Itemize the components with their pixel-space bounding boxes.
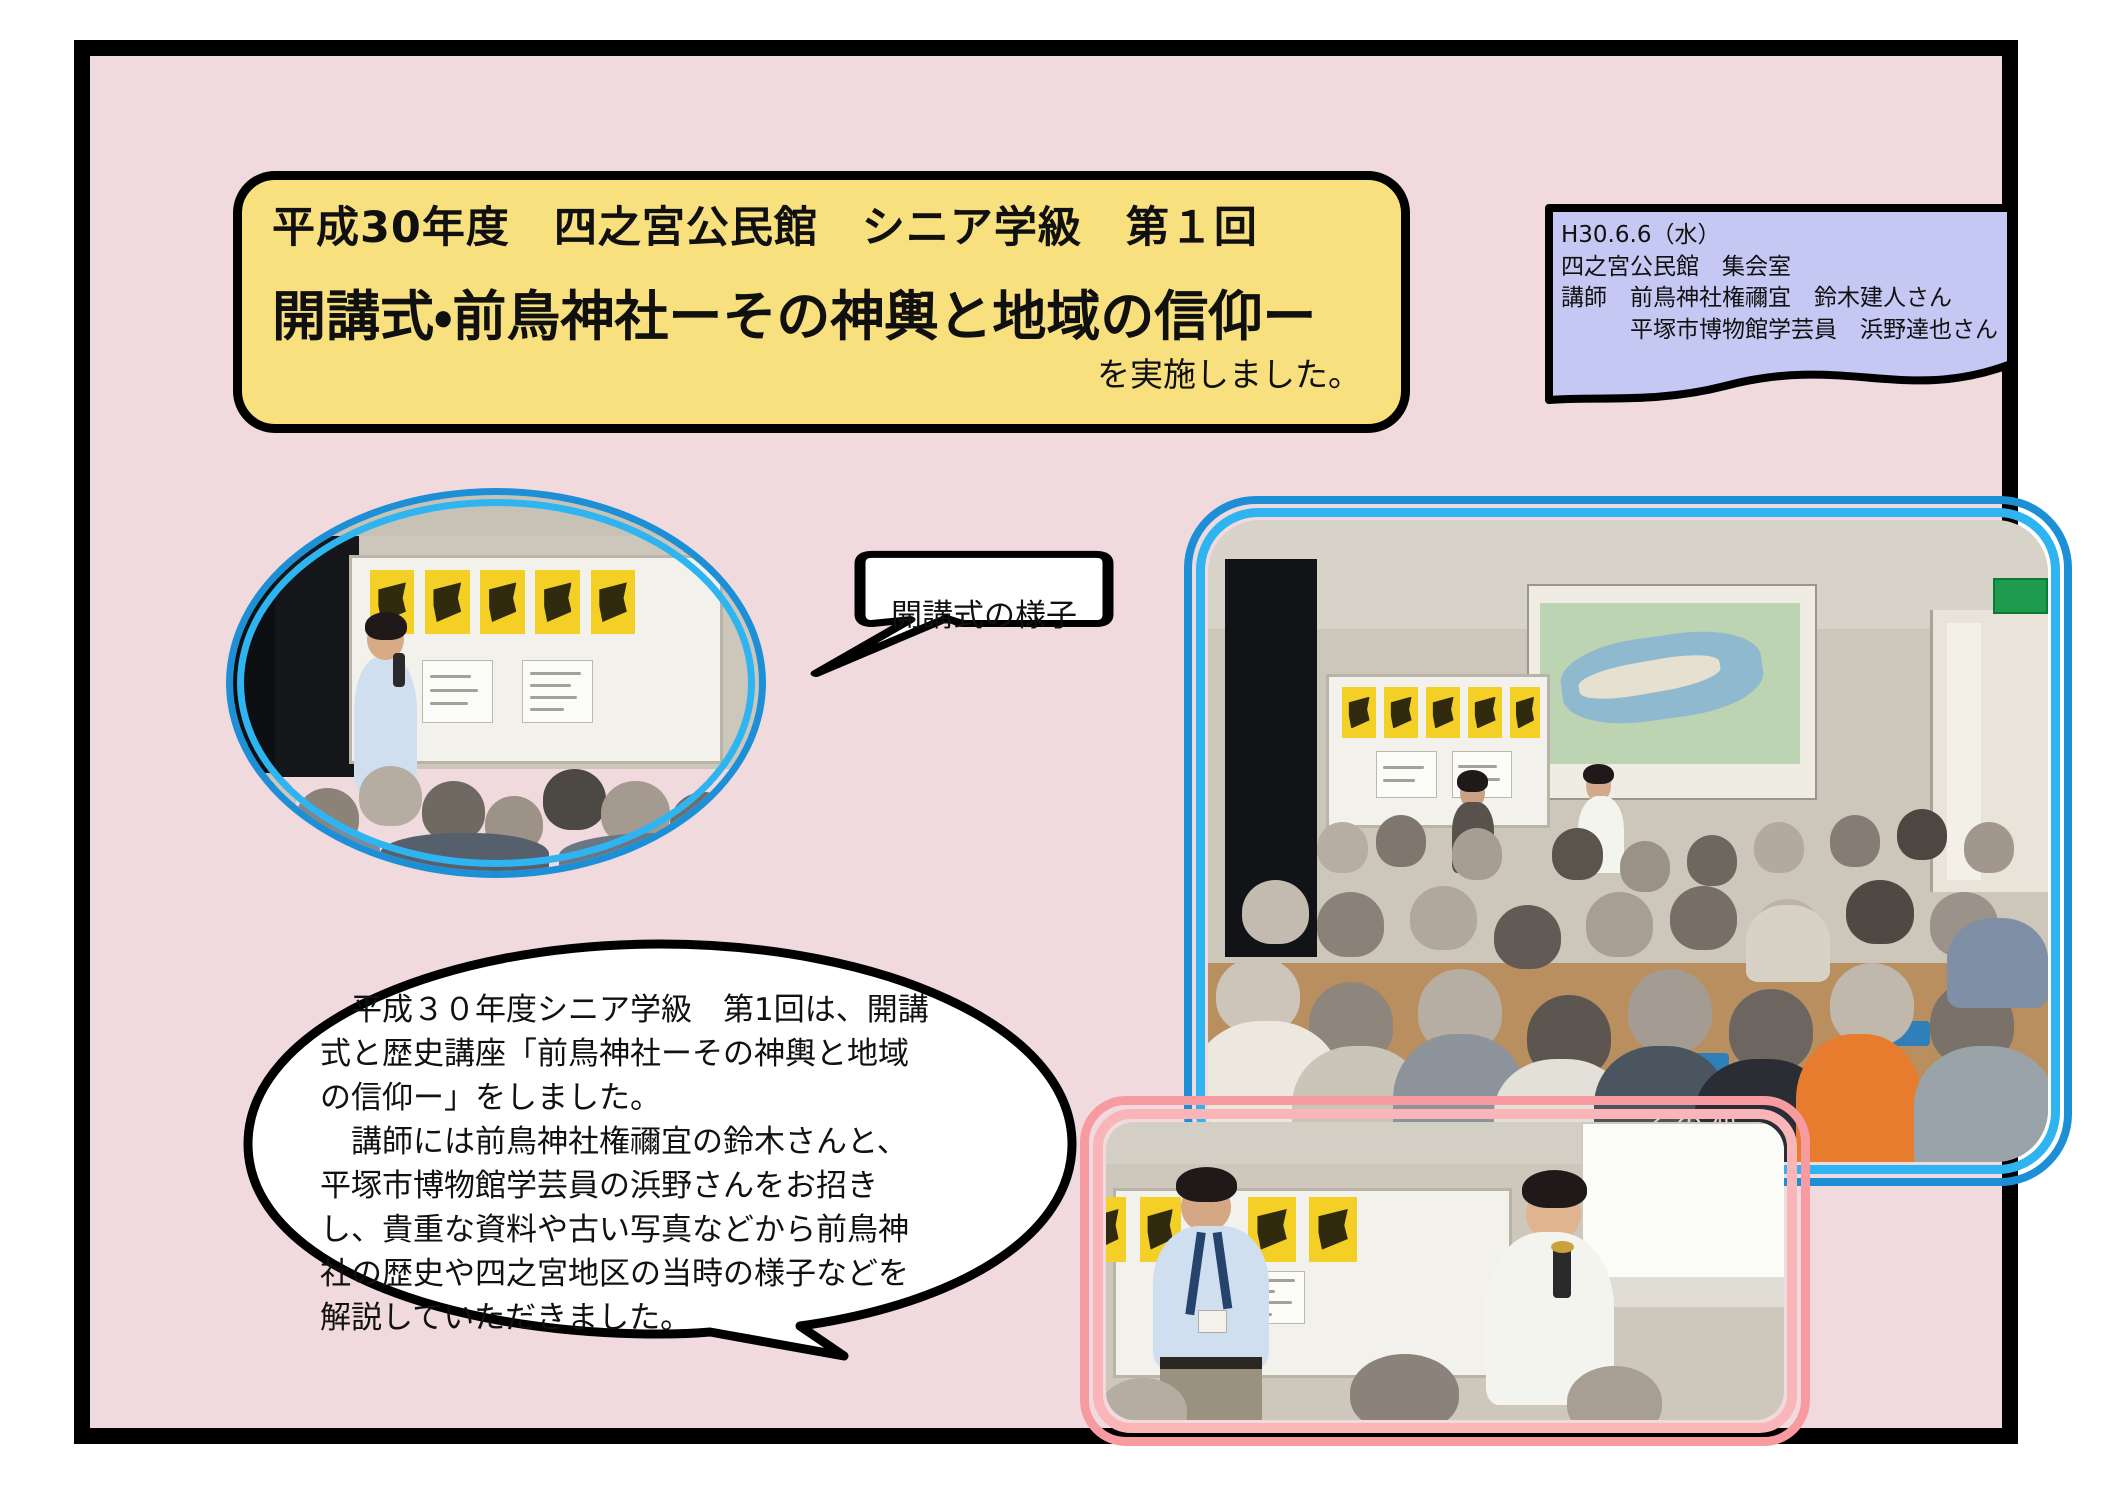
photo-lecturers-pink-frame — [1080, 1096, 1810, 1446]
photo-opening-ceremony-oval — [226, 488, 766, 878]
photo-audience-outer-ring — [1184, 496, 2072, 1186]
title-banner: 平成30年度 四之宮公民館 シニア学級 第１回 開講式・前鳥神社ーその神輿と地域… — [233, 171, 1410, 433]
poster-canvas: 平成30年度 四之宮公民館 シニア学級 第１回 開講式・前鳥神社ーその神輿と地域… — [0, 0, 2104, 1488]
photo-lecturers-outer-ring — [1080, 1096, 1810, 1446]
banner-trailing-line: を実施しました。 — [272, 357, 1371, 393]
event-info-box: H30.6.6（水） 四之宮公民館 集会室 講師 前鳥神社権禰宜 鈴木建人さん … — [1545, 204, 2015, 404]
banner-subtitle-line: 平成30年度 四之宮公民館 シニア学級 第１回 — [272, 204, 1371, 253]
banner-main-title: 開講式・前鳥神社ーその神輿と地域の信仰ー — [272, 287, 1371, 346]
description-balloon: 平成３０年度シニア学級 第1回は、開講 式と歴史講座「前鳥神社ーその神輿と地域 … — [240, 936, 1080, 1356]
callout-opening-ceremony: 開講式の様子 — [850, 548, 1118, 676]
callout-text: 開講式の様子 — [850, 548, 1118, 676]
description-balloon-text: 平成３０年度シニア学級 第1回は、開講 式と歴史講座「前鳥神社ーその神輿と地域 … — [320, 988, 1010, 1340]
photo-oval-outer-ring — [226, 488, 766, 878]
photo-audience-blue-frame — [1184, 496, 2072, 1186]
event-info-text: H30.6.6（水） 四之宮公民館 集会室 講師 前鳥神社権禰宜 鈴木建人さん … — [1561, 220, 1991, 347]
poster-frame: 平成30年度 四之宮公民館 シニア学級 第１回 開講式・前鳥神社ーその神輿と地域… — [74, 40, 2018, 1444]
